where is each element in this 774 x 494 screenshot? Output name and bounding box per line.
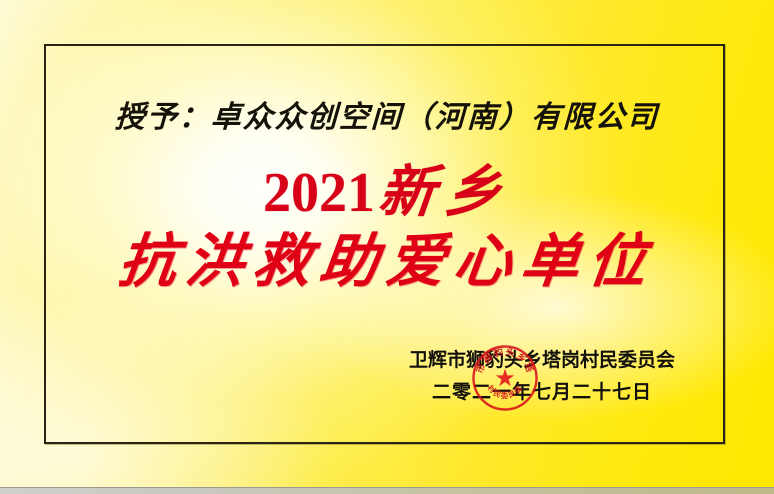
issuer-name: 卫辉市狮豹头乡塔岗村民委员会 bbox=[402, 348, 682, 372]
plaque-content: 授予：卓众众创空间（河南）有限公司 2021新乡 抗洪救助爱心单位 卫辉市狮豹头… bbox=[0, 0, 774, 494]
plaque-title-line-1: 2021新乡 bbox=[0, 162, 774, 224]
plaque-title-line-2: 抗洪救助爱心单位 bbox=[0, 230, 774, 294]
issue-date: 二零二一年七月二十七日 bbox=[402, 380, 682, 404]
title-year: 2021 bbox=[263, 162, 375, 224]
signature-block: 卫辉市狮豹头乡塔岗村民委员会 二零二一年七月二十七日 bbox=[402, 348, 682, 404]
title-place: 新乡 bbox=[376, 162, 515, 224]
award-plaque: 授予：卓众众创空间（河南）有限公司 2021新乡 抗洪救助爱心单位 卫辉市狮豹头… bbox=[0, 0, 774, 494]
plaque-title-block: 2021新乡 抗洪救助爱心单位 bbox=[0, 162, 774, 294]
photo-bottom-rail bbox=[0, 487, 774, 494]
awarded-to-line: 授予：卓众众创空间（河南）有限公司 bbox=[0, 92, 774, 136]
